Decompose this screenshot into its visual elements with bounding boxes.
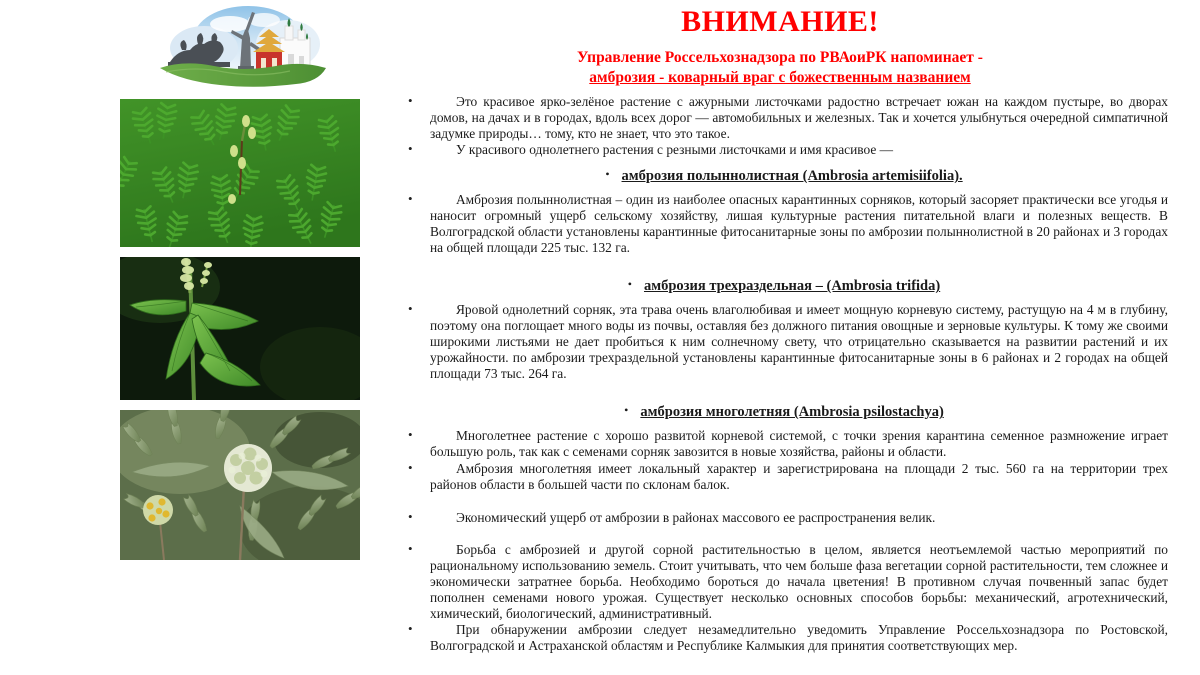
species-heading-text: амброзия трехраздельная – (Ambrosia trif… — [644, 278, 940, 294]
paragraph-beautiful-name: У красивого однолетнего растения с резны… — [400, 142, 1168, 158]
paragraph-trifida-description: Яровой однолетний сорняк, эта трава очен… — [400, 302, 1168, 381]
paragraph-text: Амброзия полыннолистная – один из наибол… — [430, 192, 1168, 255]
ambrosia-artemisiifolia-photo — [120, 99, 360, 247]
paragraph-intro: Это красивое ярко-зелёное растение с ажу… — [400, 94, 1168, 141]
header-band: ВНИМАНИЕ! Управление Россельхознадзора п… — [0, 0, 1200, 92]
paragraph-text: Яровой однолетний сорняк, эта трава очен… — [430, 302, 1168, 381]
content-column: Это красивое ярко-зелёное растение с ажу… — [400, 94, 1168, 655]
regional-landmarks-emblem-icon — [152, 4, 334, 92]
species-heading-artemisiifolia: •амброзия полыннолистная (Ambrosia artem… — [400, 165, 1168, 186]
page-title: ВНИМАНИЕ! — [380, 6, 1180, 38]
paragraph-notification-instruction: При обнаружении амброзии следует незамед… — [400, 622, 1168, 654]
species-heading-psilostachya: •амброзия многолетняя (Ambrosia psilosta… — [400, 401, 1168, 422]
species-heading-text: амброзия полыннолистная (Ambrosia artemi… — [622, 168, 963, 184]
paragraph-text: Это красивое ярко-зелёное растение с ажу… — [430, 94, 1168, 141]
paragraph-text: У красивого однолетнего растения с резны… — [430, 142, 1168, 158]
paragraph-psilostachya-area: Амброзия многолетняя имеет локальный хар… — [400, 461, 1168, 493]
paragraph-text: При обнаружении амброзии следует незамед… — [430, 622, 1168, 654]
paragraph-economic-damage: Экономический ущерб от амброзии в района… — [400, 510, 1168, 526]
paragraph-psilostachya-description: Многолетнее растение с хорошо развитой к… — [400, 428, 1168, 460]
title-block: ВНИМАНИЕ! Управление Россельхознадзора п… — [380, 6, 1180, 88]
heading-bullet-icon: • — [628, 277, 632, 291]
subtitle-line-1: Управление Россельхознадзора по РВАоиРК … — [380, 48, 1180, 68]
paragraph-control-measures: Борьба с амброзией и другой сорной расти… — [400, 542, 1168, 621]
paragraph-text: Экономический ущерб от амброзии в района… — [430, 510, 1168, 526]
paragraph-text: Борьба с амброзией и другой сорной расти… — [430, 542, 1168, 621]
species-heading-trifida: •амброзия трехраздельная – (Ambrosia tri… — [400, 275, 1168, 296]
paragraph-text: Амброзия многолетняя имеет локальный хар… — [430, 461, 1168, 493]
heading-bullet-icon: • — [605, 167, 609, 181]
species-heading-text: амброзия многолетняя (Ambrosia psilostac… — [640, 404, 943, 420]
paragraph-artemisiifolia-description: Амброзия полыннолистная – один из наибол… — [400, 192, 1168, 255]
heading-bullet-icon: • — [624, 403, 628, 417]
subtitle-line-2: амброзия - коварный враг с божественным … — [380, 68, 1180, 88]
ambrosia-trifida-photo — [120, 257, 360, 400]
paragraph-text: Многолетнее растение с хорошо развитой к… — [430, 428, 1168, 460]
ambrosia-psilostachya-photo — [120, 410, 360, 560]
